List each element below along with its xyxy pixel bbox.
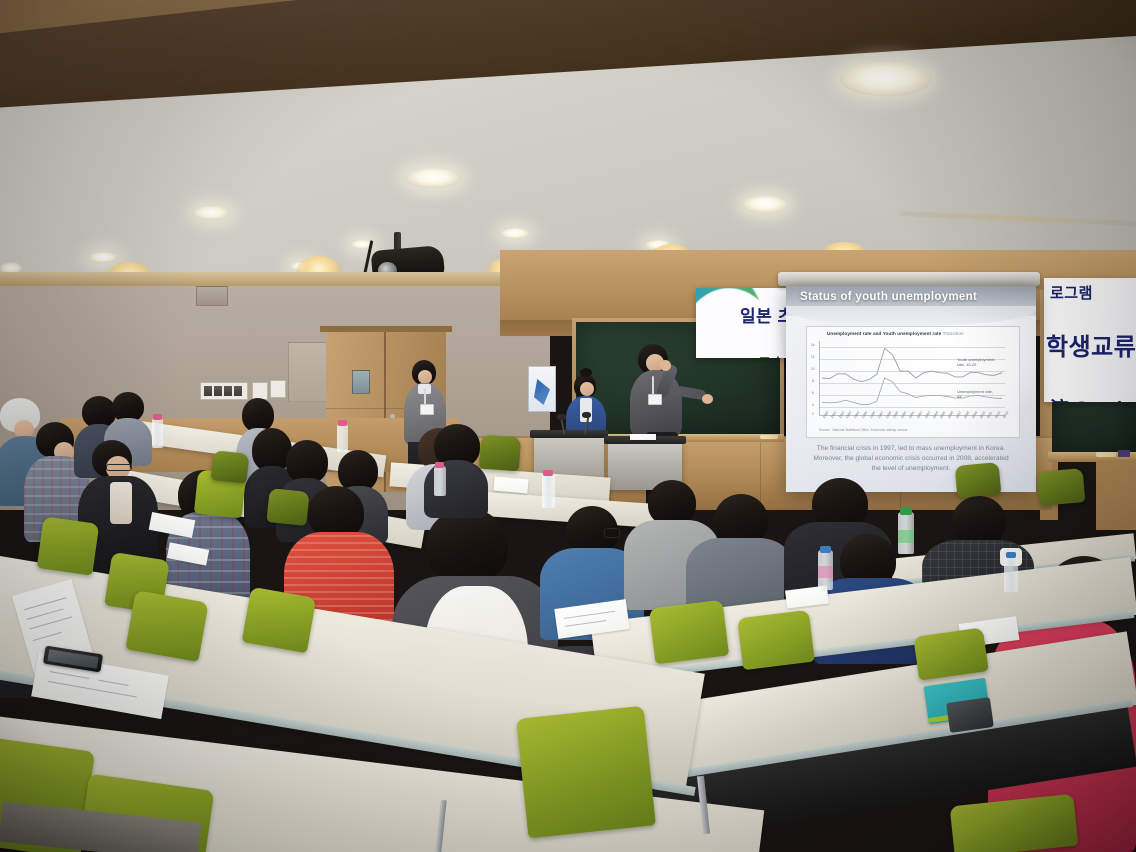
chair-foreground[interactable] xyxy=(516,706,656,839)
bottle-cap xyxy=(543,470,553,476)
staff-face xyxy=(418,370,432,384)
bottle-cap xyxy=(153,414,162,420)
door-window xyxy=(352,370,370,394)
projection-screen: Status of youth unemployment Unemploymen… xyxy=(786,286,1036,492)
light-switch[interactable] xyxy=(234,386,242,396)
staff-badge xyxy=(420,404,434,415)
water-bottle xyxy=(434,466,446,496)
audience-scarf xyxy=(110,482,132,524)
eyeglasses xyxy=(604,528,620,538)
tablet[interactable] xyxy=(946,697,994,733)
slide-chart: Unemployment rate and Youth unemployment… xyxy=(806,326,1020,438)
banner-right-line2: 학생교류 xyxy=(1046,327,1136,362)
legend-all: Unemployment rate, All xyxy=(957,389,993,399)
bottle-label xyxy=(818,566,833,578)
presenter-lanyard xyxy=(652,376,654,396)
bottle-label xyxy=(898,530,914,543)
light-switch[interactable] xyxy=(204,386,212,396)
bottle-cap xyxy=(435,462,444,468)
downlight xyxy=(500,228,530,239)
banner-right-line3: 流 Semi xyxy=(1050,394,1136,402)
microphone xyxy=(582,412,591,418)
y-tick-label: 8 xyxy=(812,379,814,383)
chart-caption-suffix: Transition xyxy=(943,331,964,336)
y-tick-label: 10 xyxy=(811,367,815,371)
chair-foreground[interactable] xyxy=(950,794,1079,852)
bottle-cap xyxy=(338,420,347,426)
chair[interactable] xyxy=(125,590,208,662)
chair[interactable] xyxy=(242,587,317,654)
eraser xyxy=(1118,450,1130,457)
y-tick-label: 4 xyxy=(812,403,814,407)
bottle-cap xyxy=(1006,552,1016,558)
presenter-badge xyxy=(648,394,662,405)
chair[interactable] xyxy=(479,435,521,472)
audience-head-check-shirt xyxy=(952,496,1006,546)
legend-youth: Youth unemployment rate, 15-29 xyxy=(957,357,994,367)
water-bottle xyxy=(542,474,555,508)
bottle-cap xyxy=(900,508,912,515)
audience-head xyxy=(242,398,274,432)
chair[interactable] xyxy=(266,488,309,526)
legend-all-line1: Unemployment rate, xyxy=(957,389,993,394)
paper-line xyxy=(33,632,62,641)
chair[interactable] xyxy=(649,600,729,665)
bottle-cap xyxy=(820,546,831,553)
slide-title: Status of youth unemployment xyxy=(800,291,977,303)
chair[interactable] xyxy=(955,462,1002,498)
downlight xyxy=(405,168,461,188)
legend-youth-line2: rate, 15-29 xyxy=(957,362,976,367)
chair[interactable] xyxy=(211,450,250,484)
audience-head-grey-tee xyxy=(426,508,508,584)
light-switch-panel[interactable] xyxy=(270,380,286,398)
paper-line xyxy=(99,680,129,686)
y-tick-label: 12 xyxy=(811,355,815,359)
wall-poster xyxy=(528,366,556,412)
podium-notes xyxy=(630,434,656,440)
presenter-hand-extended xyxy=(702,394,713,404)
banner-right-line1: 로그램 xyxy=(1050,282,1136,303)
water-bottle xyxy=(152,418,163,448)
door-frame xyxy=(320,326,452,332)
chair[interactable] xyxy=(1037,468,1086,506)
microphone xyxy=(557,414,566,420)
light-switch[interactable] xyxy=(214,386,222,396)
chart-source-note: Source : National Statistical Office, Ec… xyxy=(819,428,907,432)
wainscot-line xyxy=(760,436,761,510)
downlight xyxy=(88,252,118,263)
paper-line xyxy=(30,616,73,629)
presenter-hand xyxy=(660,360,671,371)
podium-top-surface xyxy=(530,430,608,438)
y-tick-label: 2 xyxy=(812,412,814,416)
chart-caption: Unemployment rate and Youth unemployment… xyxy=(827,331,964,336)
paper-line xyxy=(50,671,90,679)
light-switch[interactable] xyxy=(224,386,232,396)
water-bottle xyxy=(1004,556,1018,592)
chart-lines xyxy=(819,341,1005,415)
chalk-pieces xyxy=(760,435,778,439)
y-tick-label: 6 xyxy=(812,391,814,395)
poster-graphic xyxy=(534,379,550,405)
banner-right: 로그램 학생교류 流 Semi 18호 xyxy=(1044,278,1136,402)
moderator-face xyxy=(580,382,594,396)
moderator-hair-bun xyxy=(580,368,592,377)
chair[interactable] xyxy=(37,516,100,575)
downlight xyxy=(840,62,932,96)
cornice-left xyxy=(0,272,550,286)
y-tick-label: 14 xyxy=(811,343,815,347)
paper-line xyxy=(565,620,607,627)
chart-caption-main: Unemployment rate and Youth unemployment… xyxy=(827,331,941,336)
downlight xyxy=(742,196,788,213)
chalk-pieces xyxy=(1096,452,1116,457)
wall-vent xyxy=(196,286,228,306)
eyeglasses xyxy=(106,464,132,471)
slide-body-line: The financial crisis in 1997, led to mas… xyxy=(796,444,1026,454)
paper-line xyxy=(564,611,616,619)
downlight xyxy=(192,206,230,220)
water-bottle xyxy=(337,424,348,452)
paper-line xyxy=(27,608,64,619)
screen-housing xyxy=(778,272,1040,286)
handout xyxy=(493,477,528,494)
seminar-room-photo: 일본 츠오 日本 로그램 학생교류 流 Semi 18호 Status of y… xyxy=(0,0,1136,852)
legend-all-line2: All xyxy=(957,394,961,399)
light-switch-panel[interactable] xyxy=(200,382,248,400)
chair[interactable] xyxy=(737,610,815,670)
